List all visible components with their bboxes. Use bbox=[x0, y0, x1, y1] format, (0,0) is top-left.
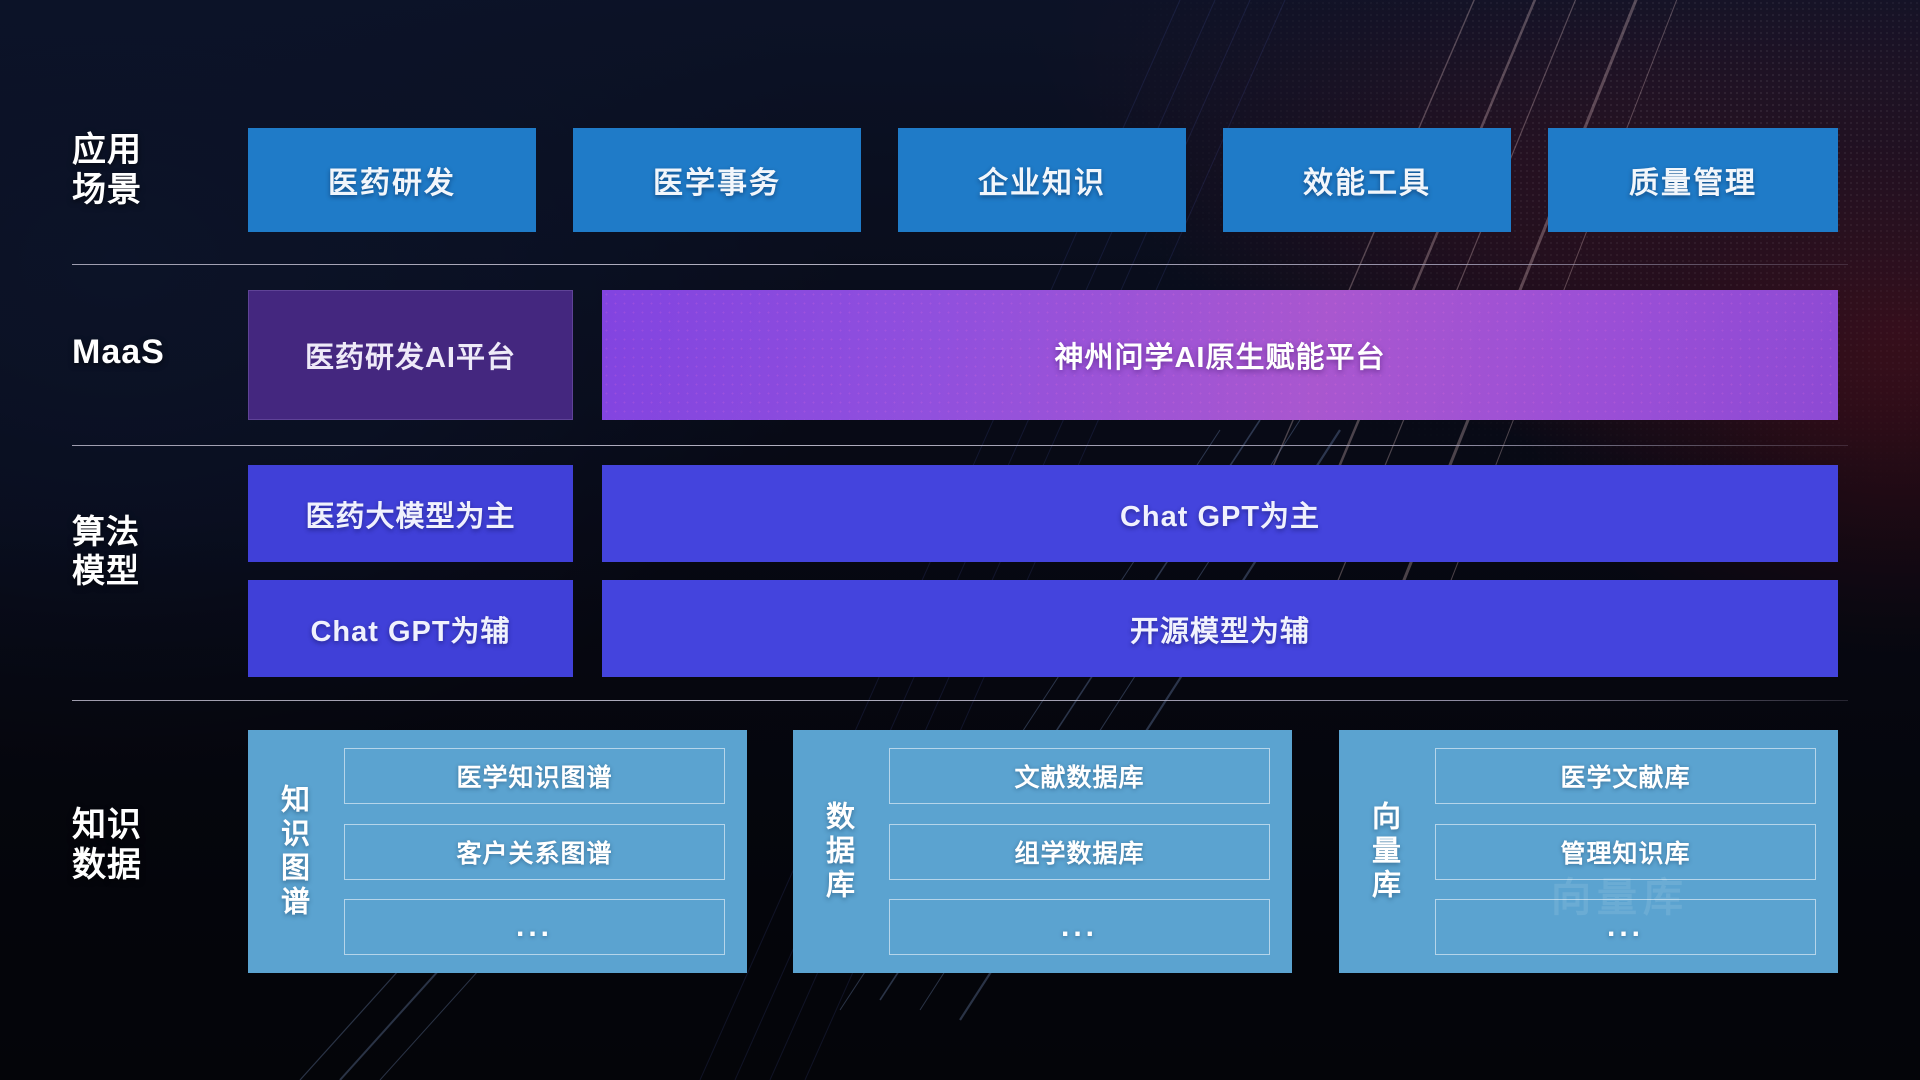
row-label-maas: MaaS bbox=[72, 332, 204, 372]
divider-1 bbox=[72, 264, 1848, 265]
knowledge-item-more[interactable]: ... bbox=[344, 899, 725, 955]
scenario-box-4[interactable]: 效能工具 bbox=[1223, 128, 1511, 232]
slide-canvas: 应用 场景 医药研发 医学事务 企业知识 效能工具 质量管理 MaaS bbox=[0, 0, 1920, 1080]
algorithm-label-4: 开源模型为辅 bbox=[1130, 608, 1310, 650]
row-label-line1: 算法 bbox=[72, 513, 204, 552]
knowledge-item-label: 客户关系图谱 bbox=[456, 834, 612, 870]
knowledge-item-label: ... bbox=[516, 910, 553, 944]
scenario-label-2: 医学事务 bbox=[653, 158, 781, 202]
algorithm-label-3: Chat GPT为辅 bbox=[310, 608, 510, 650]
row-label-line2: 数据 bbox=[72, 845, 204, 885]
knowledge-item-label: 医学知识图谱 bbox=[456, 758, 612, 794]
knowledge-item-label: ... bbox=[1061, 910, 1098, 944]
algorithm-label-1: 医药大模型为主 bbox=[305, 493, 515, 535]
scenario-box-2[interactable]: 医学事务 bbox=[573, 128, 861, 232]
row-label-line1: 知识 bbox=[72, 805, 204, 845]
knowledge-item-label: 组学数据库 bbox=[1014, 834, 1144, 870]
scenario-label-4: 效能工具 bbox=[1303, 158, 1431, 202]
knowledge-item[interactable]: 客户关系图谱 bbox=[344, 824, 725, 880]
scenario-box-1[interactable]: 医药研发 bbox=[248, 128, 536, 232]
algorithm-box-secondary-opensource[interactable]: 开源模型为辅 bbox=[602, 580, 1838, 677]
algorithm-box-secondary-chatgpt[interactable]: Chat GPT为辅 bbox=[248, 580, 573, 677]
scenario-box-3[interactable]: 企业知识 bbox=[898, 128, 1186, 232]
knowledge-group-graph: 知识图谱 医学知识图谱 客户关系图谱 ... bbox=[248, 730, 747, 973]
maas-platform-box-left[interactable]: 医药研发AI平台 bbox=[248, 290, 573, 420]
row-label-line1: 应用 bbox=[72, 130, 204, 170]
knowledge-item-label: 管理知识库 bbox=[1560, 834, 1690, 870]
knowledge-item-more[interactable]: ... bbox=[1435, 899, 1816, 955]
knowledge-item-label: 文献数据库 bbox=[1014, 758, 1144, 794]
scenario-box-5[interactable]: 质量管理 bbox=[1548, 128, 1838, 232]
row-label-knowledge-data: 知识 数据 bbox=[72, 805, 204, 885]
knowledge-group-title-database: 数据库 bbox=[807, 742, 867, 961]
knowledge-item[interactable]: 文献数据库 bbox=[889, 748, 1270, 804]
knowledge-group-items-database: 文献数据库 组学数据库 ... bbox=[867, 742, 1278, 961]
knowledge-group-title-vector: 向量库 bbox=[1353, 742, 1413, 961]
algorithm-box-primary-medical[interactable]: 医药大模型为主 bbox=[248, 465, 573, 562]
knowledge-item-more[interactable]: ... bbox=[889, 899, 1270, 955]
knowledge-item[interactable]: 管理知识库 bbox=[1435, 824, 1816, 880]
knowledge-item-label: ... bbox=[1607, 910, 1644, 944]
row-label-algorithm-model: 算法 模型 bbox=[72, 513, 204, 591]
algorithm-box-primary-chatgpt[interactable]: Chat GPT为主 bbox=[602, 465, 1838, 562]
knowledge-item[interactable]: 医学文献库 bbox=[1435, 748, 1816, 804]
knowledge-group-items-graph: 医学知识图谱 客户关系图谱 ... bbox=[322, 742, 733, 961]
row-label-line2: 场景 bbox=[72, 170, 204, 210]
scenario-label-3: 企业知识 bbox=[978, 158, 1106, 202]
knowledge-item[interactable]: 组学数据库 bbox=[889, 824, 1270, 880]
algorithm-label-2: Chat GPT为主 bbox=[1120, 493, 1320, 535]
knowledge-item-label: 医学文献库 bbox=[1560, 758, 1690, 794]
maas-platform-box-right[interactable]: 神州问学AI原生赋能平台 bbox=[602, 290, 1838, 420]
knowledge-group-database: 数据库 文献数据库 组学数据库 ... bbox=[793, 730, 1292, 973]
knowledge-group-items-vector: 医学文献库 管理知识库 ... bbox=[1413, 742, 1824, 961]
knowledge-group-vector: 向量库 向量库 医学文献库 管理知识库 ... bbox=[1339, 730, 1838, 973]
row-label-line2: 模型 bbox=[72, 552, 204, 591]
row-label-application-scenarios: 应用 场景 bbox=[72, 130, 204, 210]
scenario-label-5: 质量管理 bbox=[1629, 158, 1757, 202]
scenario-label-1: 医药研发 bbox=[328, 158, 456, 202]
knowledge-group-title-graph: 知识图谱 bbox=[262, 742, 322, 961]
divider-2 bbox=[72, 445, 1848, 446]
maas-left-label: 医药研发AI平台 bbox=[305, 334, 516, 376]
knowledge-item[interactable]: 医学知识图谱 bbox=[344, 748, 725, 804]
maas-right-label: 神州问学AI原生赋能平台 bbox=[1054, 334, 1385, 376]
divider-3 bbox=[72, 700, 1848, 701]
